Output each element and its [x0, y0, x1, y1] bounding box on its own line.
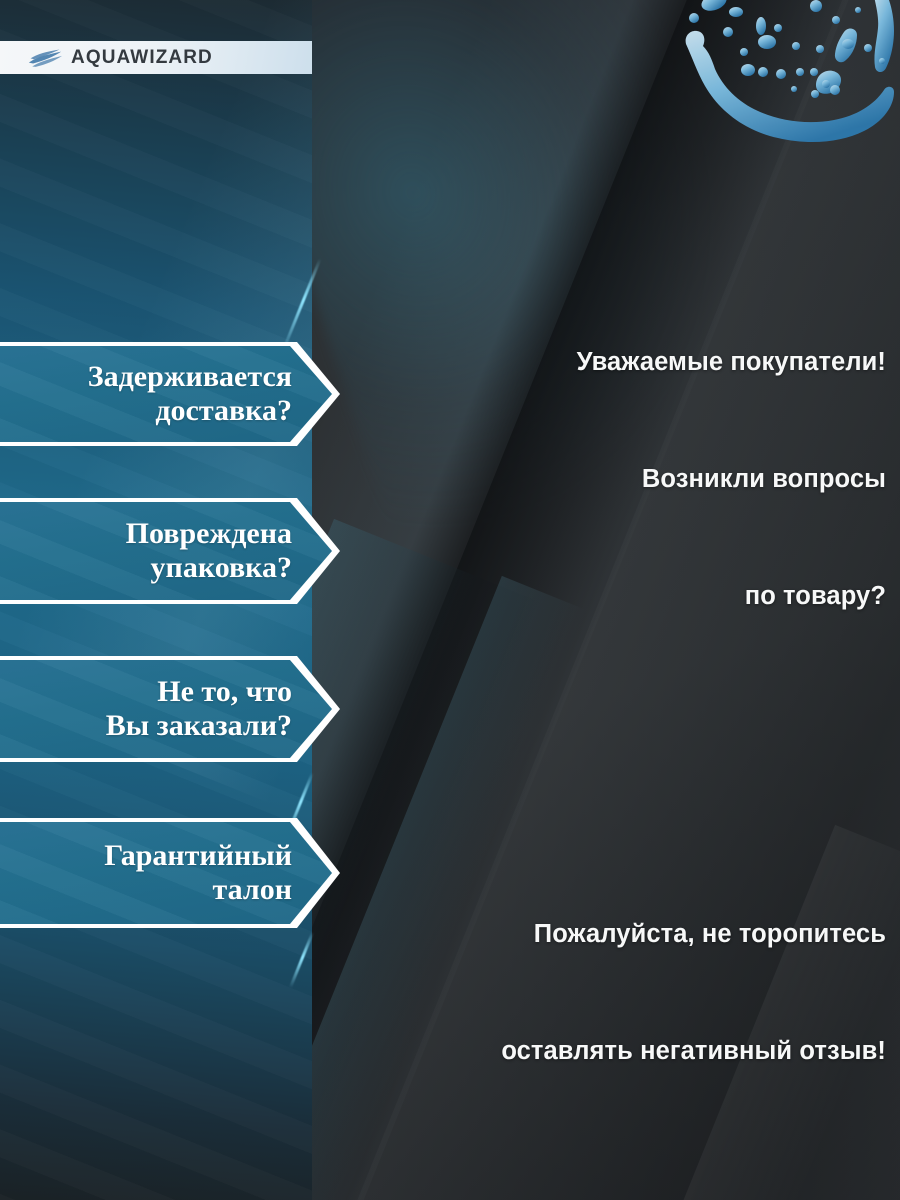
issue-tabs-list: Задерживается доставка? Повреждена упако… [0, 0, 352, 1200]
message-line: оставлять негативный отзыв! [330, 1032, 886, 1071]
promo-poster: AQUAWIZARD Задерживается доставка? Повре… [0, 0, 900, 1200]
message-line: Уважаемые покупатели! [330, 343, 886, 382]
issue-tab-line-1: Гарантийный [104, 839, 292, 873]
issue-tab-line-1: Повреждена [126, 517, 292, 551]
message-greeting: Уважаемые покупатели! Возникли вопросы п… [330, 265, 886, 694]
issue-tab-damaged-packaging[interactable]: Повреждена упаковка? [0, 498, 340, 604]
issue-tab-line-2: Вы заказали? [106, 709, 292, 743]
issue-tab-line-2: талон [213, 873, 292, 907]
issue-tab-delayed-delivery[interactable]: Задерживается доставка? [0, 342, 340, 446]
message-line: Возникли вопросы [330, 460, 886, 499]
message-line: Пожалуйста, не торопитесь [330, 915, 886, 954]
message-line: по товару? [330, 577, 886, 616]
issue-tab-wrong-item[interactable]: Не то, что Вы заказали? [0, 656, 340, 762]
issue-tab-line-2: упаковка? [151, 551, 292, 585]
issue-tab-line-2: доставка? [155, 394, 292, 428]
message-do-not-rush: Пожалуйста, не торопитесь оставлять нега… [330, 837, 886, 1149]
message-column: Уважаемые покупатели! Возникли вопросы п… [330, 148, 886, 1200]
issue-tab-line-1: Не то, что [157, 675, 292, 709]
issue-tab-line-1: Задерживается [88, 360, 292, 394]
issue-tab-warranty-card[interactable]: Гарантийный талон [0, 818, 340, 928]
